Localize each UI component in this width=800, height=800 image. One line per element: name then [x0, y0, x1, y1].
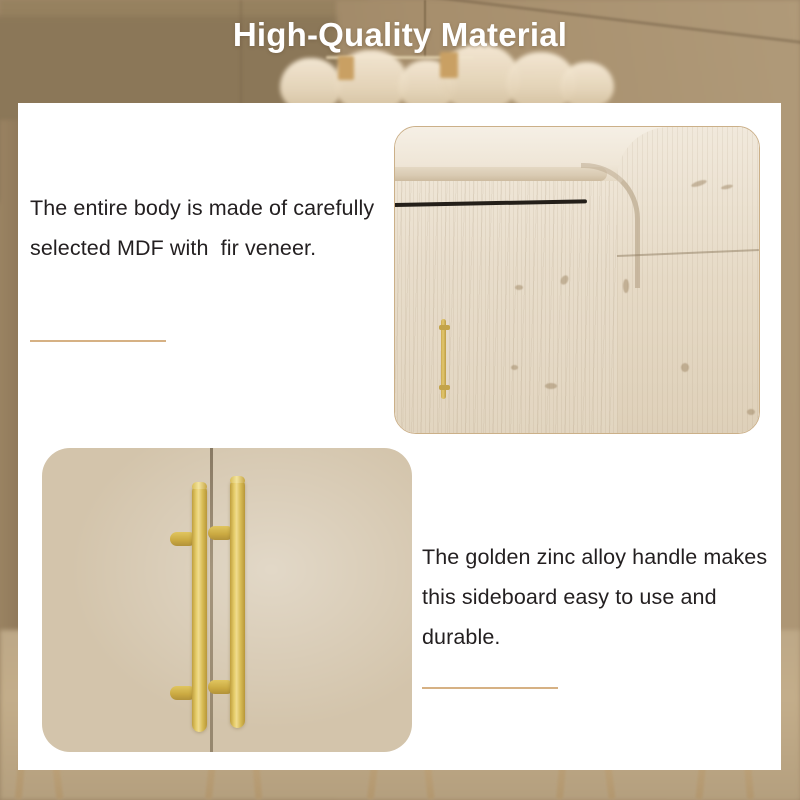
gold-handle-cap: [192, 482, 207, 489]
pendant-lamp-fitting: [338, 56, 354, 80]
wood-knot: [511, 365, 518, 370]
wood-knot: [681, 363, 689, 372]
handle-feature-block: The golden zinc alloy handle makes this …: [422, 537, 774, 689]
infographic-stage: High-Quality Material: [0, 0, 800, 800]
wood-knot: [623, 279, 629, 293]
handle-detail-photo: [42, 448, 412, 752]
gold-handle-bar-right: [230, 478, 245, 728]
pendant-lamp-shade: [560, 62, 614, 108]
handle-feature-divider: [422, 687, 558, 689]
gold-handle-post: [439, 325, 450, 330]
material-feature-text: The entire body is made of carefully sel…: [30, 188, 390, 268]
cabinet-door-seam: [210, 448, 213, 752]
gold-handle-bar-left: [192, 484, 207, 732]
gold-handle-post: [439, 385, 450, 390]
corner-detail-photo: [394, 126, 760, 434]
wood-knot: [747, 409, 755, 415]
cabinet-door-sheen: [42, 448, 412, 752]
cabinet-top-edge: [395, 167, 607, 181]
material-feature-block: The entire body is made of carefully sel…: [30, 188, 390, 342]
gold-handle-cap: [230, 476, 245, 483]
material-feature-divider: [30, 340, 166, 342]
wood-knot: [545, 383, 557, 389]
handle-feature-text: The golden zinc alloy handle makes this …: [422, 537, 774, 657]
page-title: High-Quality Material: [0, 16, 800, 54]
wood-knot: [515, 285, 523, 290]
corner-detail-photo-inner: [395, 127, 759, 433]
pendant-lamp-fitting: [440, 52, 458, 78]
